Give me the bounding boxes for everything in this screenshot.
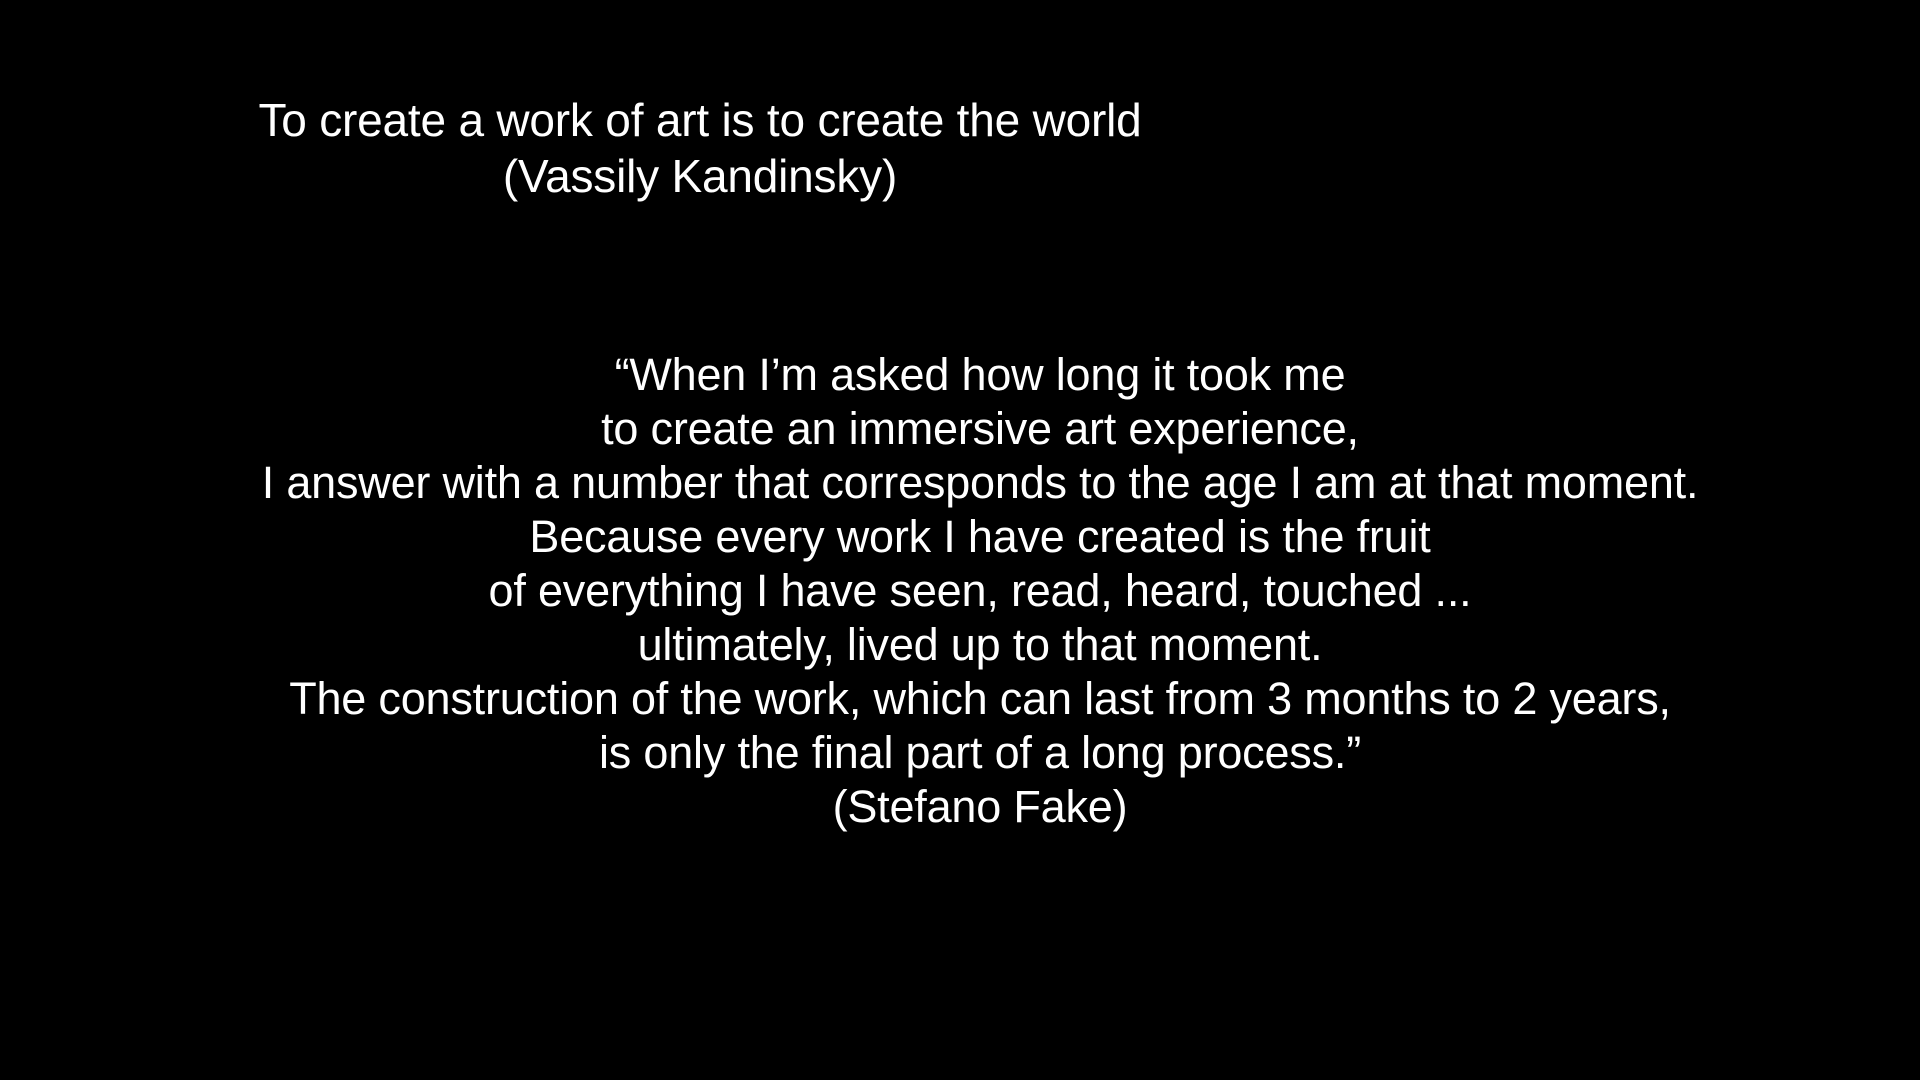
main-quote-line-3: I answer with a number that corresponds … (70, 456, 1890, 510)
epigraph-attribution: (Vassily Kandinsky) (0, 148, 1400, 204)
main-quote-attribution: (Stefano Fake) (70, 780, 1890, 834)
epigraph-quote-line: To create a work of art is to create the… (0, 92, 1400, 148)
main-quote-line-7: The construction of the work, which can … (70, 672, 1890, 726)
main-quote-line-4: Because every work I have created is the… (70, 510, 1890, 564)
epigraph-block: To create a work of art is to create the… (0, 92, 1400, 204)
main-quote-line-5: of everything I have seen, read, heard, … (70, 564, 1890, 618)
main-quote-line-2: to create an immersive art experience, (70, 402, 1890, 456)
main-quote-line-1: “When I’m asked how long it took me (70, 348, 1890, 402)
main-quote-line-6: ultimately, lived up to that moment. (70, 618, 1890, 672)
slide-canvas: To create a work of art is to create the… (0, 0, 1920, 1080)
main-quote-line-8: is only the final part of a long process… (70, 726, 1890, 780)
main-quote-block: “When I’m asked how long it took me to c… (70, 348, 1890, 834)
